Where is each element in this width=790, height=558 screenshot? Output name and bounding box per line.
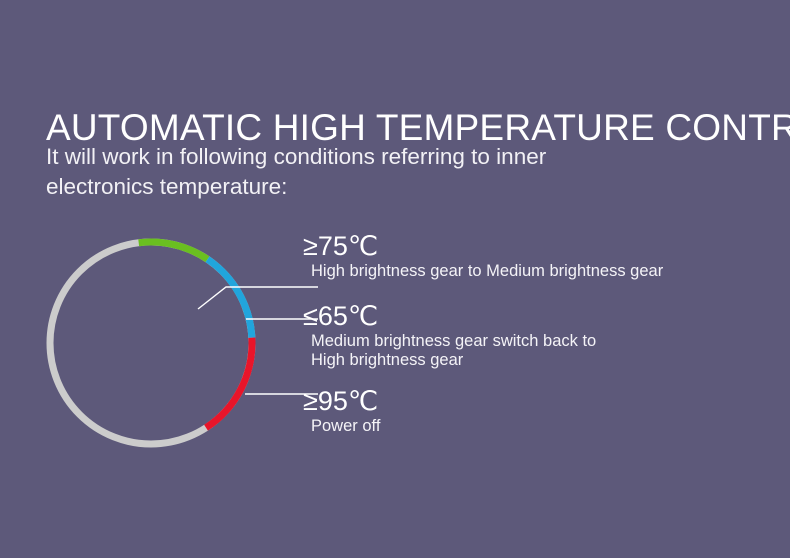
ring-segment-blue — [207, 259, 251, 337]
callout-3-description: Power off — [303, 417, 380, 436]
callout-2-description: Medium brightness gear switch back to Hi… — [303, 332, 596, 370]
subtitle: It will work in following conditions ref… — [46, 142, 666, 202]
callout-2-description-line-1: Medium brightness gear switch back to — [311, 332, 596, 351]
temperature-ring-diagram — [30, 215, 330, 475]
leader-line-1 — [198, 287, 318, 309]
callout-medium-to-high: ≤65℃ Medium brightness gear switch back … — [303, 301, 596, 370]
callout-3-description-line-1: Power off — [311, 417, 380, 436]
callout-1-temperature: ≥75℃ — [303, 231, 663, 262]
callout-2-description-line-2: High brightness gear — [311, 351, 596, 370]
callout-power-off: ≥95℃ Power off — [303, 386, 380, 436]
ring-segment-red — [206, 338, 252, 428]
callout-1-description: High brightness gear to Medium brightnes… — [303, 262, 663, 281]
callout-2-temperature: ≤65℃ — [303, 301, 596, 332]
ring-segment-green — [139, 242, 208, 259]
subtitle-line-2: electronics temperature: — [46, 172, 666, 202]
slide-canvas: AUTOMATIC HIGH TEMPERATURE CONTROL It wi… — [0, 0, 790, 558]
callout-high-to-medium: ≥75℃ High brightness gear to Medium brig… — [303, 231, 663, 281]
callout-3-temperature: ≥95℃ — [303, 386, 380, 417]
subtitle-line-1: It will work in following conditions ref… — [46, 142, 666, 172]
callout-1-description-line-1: High brightness gear to Medium brightnes… — [311, 262, 663, 281]
